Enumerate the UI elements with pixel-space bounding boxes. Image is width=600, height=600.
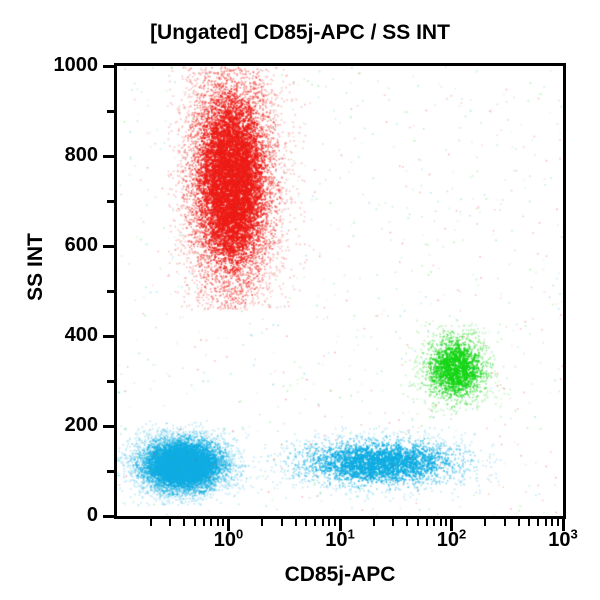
x-tick-minor [194, 519, 196, 526]
x-tick-minor [433, 519, 435, 526]
x-tick-minor [334, 519, 336, 526]
y-tick-label: 0 [18, 505, 98, 525]
x-tick-minor [322, 519, 324, 526]
y-tick-minor [107, 110, 114, 113]
x-tick-minor [314, 519, 316, 526]
y-tick-minor [107, 470, 114, 473]
plot-area [114, 63, 566, 519]
x-tick-minor [545, 519, 547, 526]
x-axis-label: CD85j-APC [114, 563, 566, 587]
y-tick-minor [107, 380, 114, 383]
x-tick-label: 103 [523, 530, 600, 550]
x-tick-minor [203, 519, 205, 526]
x-tick-label: 102 [412, 530, 492, 550]
y-axis-label: SS INT [24, 187, 48, 347]
x-tick-minor [328, 519, 330, 526]
x-tick-minor [183, 519, 185, 526]
x-tick-minor [528, 519, 530, 526]
x-tick-minor [373, 519, 375, 526]
x-tick-minor [504, 519, 506, 526]
x-tick-minor [217, 519, 219, 526]
y-tick-label: 600 [18, 235, 98, 255]
y-tick-major [103, 245, 114, 248]
x-tick-minor [551, 519, 553, 526]
y-tick-major [103, 335, 114, 338]
y-tick-major [103, 515, 114, 518]
y-tick-label: 1000 [18, 55, 98, 75]
x-tick-minor [406, 519, 408, 526]
x-tick-minor [537, 519, 539, 526]
y-tick-major [103, 65, 114, 68]
y-tick-minor [107, 290, 114, 293]
flow-cytometry-plot: [Ungated] CD85j-APC / SS INT SS INT CD85… [0, 0, 600, 600]
y-tick-minor [107, 200, 114, 203]
x-tick-minor [281, 519, 283, 526]
x-tick-label: 100 [189, 530, 269, 550]
y-tick-major [103, 155, 114, 158]
y-tick-label: 200 [18, 415, 98, 435]
x-tick-label: 101 [300, 530, 380, 550]
x-tick-minor [440, 519, 442, 526]
x-tick-minor [426, 519, 428, 526]
x-tick-minor [150, 519, 152, 526]
x-tick-minor [210, 519, 212, 526]
x-tick-minor [484, 519, 486, 526]
x-tick-minor [261, 519, 263, 526]
x-tick-minor [305, 519, 307, 526]
scatter-points-canvas [117, 66, 563, 516]
x-tick-minor [518, 519, 520, 526]
page-title: [Ungated] CD85j-APC / SS INT [0, 21, 600, 45]
x-tick-minor [169, 519, 171, 526]
x-tick-minor [445, 519, 447, 526]
y-tick-label: 400 [18, 325, 98, 345]
x-tick-minor [392, 519, 394, 526]
x-tick-minor [295, 519, 297, 526]
x-tick-minor [417, 519, 419, 526]
x-tick-minor [557, 519, 559, 526]
y-tick-label: 800 [18, 145, 98, 165]
y-tick-major [103, 425, 114, 428]
x-tick-minor [222, 519, 224, 526]
